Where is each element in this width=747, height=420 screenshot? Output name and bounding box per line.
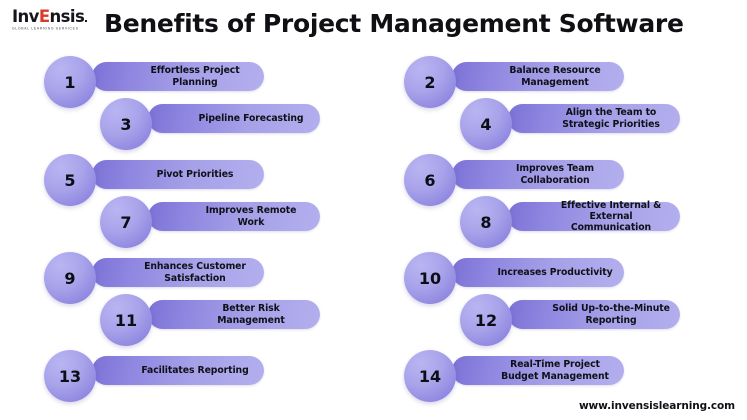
page-title: Benefits of Project Management Software bbox=[104, 9, 674, 38]
benefit-label-5: Pivot Priorities bbox=[157, 169, 234, 180]
benefit-bar-12: Solid Up-to-the-Minute Reporting bbox=[508, 300, 680, 329]
benefit-number-badge-3: 3 bbox=[100, 98, 152, 150]
benefit-row-3[interactable]: Pipeline Forecasting3 bbox=[44, 98, 374, 156]
benefit-number-12: 12 bbox=[475, 312, 497, 329]
benefit-label-6: Improves Team Collaboration bbox=[496, 163, 614, 186]
logo-word-part2: nsis bbox=[50, 7, 85, 26]
benefit-bar-1: Effortless Project Planning bbox=[92, 62, 264, 91]
benefit-bar-13: Facilitates Reporting bbox=[92, 356, 264, 385]
logo-word-part1: Inv bbox=[12, 7, 39, 26]
benefit-number-badge-4: 4 bbox=[460, 98, 512, 150]
benefit-label-10: Increases Productivity bbox=[497, 267, 612, 278]
benefit-bar-6: Improves Team Collaboration bbox=[452, 160, 624, 189]
benefit-label-14: Real-Time Project Budget Management bbox=[496, 359, 614, 382]
benefit-label-2: Balance Resource Management bbox=[496, 65, 614, 88]
header: InvEnsis Global Learning Services Benefi… bbox=[0, 0, 747, 46]
benefit-number-3: 3 bbox=[120, 116, 131, 133]
logo-tagline: Global Learning Services bbox=[12, 27, 90, 31]
benefit-number-9: 9 bbox=[64, 270, 75, 287]
brand-logo[interactable]: InvEnsis Global Learning Services bbox=[12, 9, 90, 30]
benefit-bar-2: Balance Resource Management bbox=[452, 62, 624, 91]
logo-word-accent: E bbox=[39, 7, 50, 26]
benefit-row-7[interactable]: Improves Remote Work7 bbox=[44, 196, 374, 254]
benefit-bar-8: Effective Internal & External Communicat… bbox=[508, 202, 680, 231]
benefit-bar-14: Real-Time Project Budget Management bbox=[452, 356, 624, 385]
benefit-bar-10: Increases Productivity bbox=[452, 258, 624, 287]
benefit-label-7: Improves Remote Work bbox=[192, 205, 310, 228]
benefit-number-badge-12: 12 bbox=[460, 294, 512, 346]
footer-website-url[interactable]: www.invensislearning.com bbox=[579, 400, 735, 412]
benefit-label-9: Enhances Customer Satisfaction bbox=[136, 261, 254, 284]
benefit-bar-4: Align the Team to Strategic Priorities bbox=[508, 104, 680, 133]
logo-dot-icon bbox=[85, 20, 87, 22]
benefit-number-2: 2 bbox=[424, 74, 435, 91]
benefit-label-1: Effortless Project Planning bbox=[136, 65, 254, 88]
benefit-number-10: 10 bbox=[419, 270, 441, 287]
benefit-number-14: 14 bbox=[419, 368, 441, 385]
benefit-label-8: Effective Internal & External Communicat… bbox=[552, 200, 670, 234]
benefit-number-11: 11 bbox=[115, 312, 137, 329]
benefit-bar-3: Pipeline Forecasting bbox=[148, 104, 320, 133]
benefit-number-badge-8: 8 bbox=[460, 196, 512, 248]
benefit-number-7: 7 bbox=[120, 214, 131, 231]
benefits-column-left: Effortless Project Planning1Pipeline For… bbox=[44, 46, 374, 396]
benefit-row-12[interactable]: Solid Up-to-the-Minute Reporting12 bbox=[404, 294, 734, 352]
benefit-number-4: 4 bbox=[480, 116, 491, 133]
benefit-number-1: 1 bbox=[64, 74, 75, 91]
benefit-label-12: Solid Up-to-the-Minute Reporting bbox=[552, 303, 670, 326]
benefit-row-4[interactable]: Align the Team to Strategic Priorities4 bbox=[404, 98, 734, 156]
benefit-number-6: 6 bbox=[424, 172, 435, 189]
benefit-label-4: Align the Team to Strategic Priorities bbox=[552, 107, 670, 130]
benefit-number-badge-7: 7 bbox=[100, 196, 152, 248]
benefit-label-11: Better Risk Management bbox=[192, 303, 310, 326]
benefit-label-3: Pipeline Forecasting bbox=[199, 113, 304, 124]
benefit-number-badge-13: 13 bbox=[44, 350, 96, 402]
benefits-column-right: Balance Resource Management2Align the Te… bbox=[404, 46, 734, 396]
benefit-number-13: 13 bbox=[59, 368, 81, 385]
benefit-number-5: 5 bbox=[64, 172, 75, 189]
benefit-bar-11: Better Risk Management bbox=[148, 300, 320, 329]
benefit-row-8[interactable]: Effective Internal & External Communicat… bbox=[404, 196, 734, 254]
benefit-row-11[interactable]: Better Risk Management11 bbox=[44, 294, 374, 352]
benefit-number-badge-14: 14 bbox=[404, 350, 456, 402]
benefit-number-badge-11: 11 bbox=[100, 294, 152, 346]
logo-wordmark: InvEnsis bbox=[12, 9, 90, 26]
benefit-bar-5: Pivot Priorities bbox=[92, 160, 264, 189]
benefit-bar-9: Enhances Customer Satisfaction bbox=[92, 258, 264, 287]
benefit-number-8: 8 bbox=[480, 214, 491, 231]
benefit-bar-7: Improves Remote Work bbox=[148, 202, 320, 231]
benefit-row-13[interactable]: Facilitates Reporting13 bbox=[44, 350, 374, 408]
benefit-label-13: Facilitates Reporting bbox=[141, 365, 248, 376]
